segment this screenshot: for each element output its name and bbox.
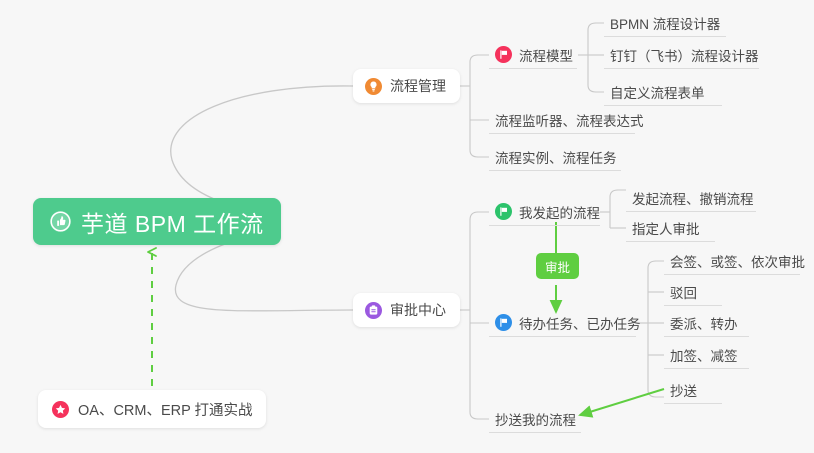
leaf-label: 抄送我的流程 <box>495 409 576 429</box>
leaf-label: 流程监听器、流程表达式 <box>495 110 644 130</box>
thumbs-up-icon <box>50 211 71 232</box>
flag-icon <box>495 314 512 331</box>
leaf-label: 发起流程、撤销流程 <box>632 188 754 208</box>
leaf-chaosong[interactable]: 抄送 <box>664 376 722 404</box>
root-label: 芋道 BPM 工作流 <box>81 205 264 239</box>
leaf-bohui[interactable]: 驳回 <box>664 278 722 306</box>
leaf-faqi-chexiao-liucheng[interactable]: 发起流程、撤销流程 <box>626 184 756 212</box>
leaf-label: 驳回 <box>670 282 697 302</box>
leaf-dingding-designer[interactable]: 钉钉（飞书）流程设计器 <box>604 41 759 69</box>
callout-label: OA、CRM、ERP 打通实战 <box>78 399 253 420</box>
leaf-liucheng-shili[interactable]: 流程实例、流程任务 <box>489 143 621 171</box>
leaf-liucheng-moxing[interactable]: 流程模型 <box>489 41 577 69</box>
leaf-label: 抄送 <box>670 380 697 400</box>
clipboard-icon <box>365 302 382 319</box>
leaf-bpmn-designer[interactable]: BPMN 流程设计器 <box>604 9 726 37</box>
leaf-label: 我发起的流程 <box>519 202 600 222</box>
leaf-chaosong-wode-liucheng[interactable]: 抄送我的流程 <box>489 405 581 433</box>
leaf-zhidingren-shenpi[interactable]: 指定人审批 <box>626 214 715 242</box>
leaf-label: 流程模型 <box>519 45 573 65</box>
root-node[interactable]: 芋道 BPM 工作流 <box>33 198 281 245</box>
leaf-label: 指定人审批 <box>632 218 700 238</box>
leaf-label: 流程实例、流程任务 <box>495 147 617 167</box>
leaf-label: 委派、转办 <box>670 313 738 333</box>
leaf-liucheng-jiantingqi[interactable]: 流程监听器、流程表达式 <box>489 106 635 134</box>
leaf-label: 加签、减签 <box>670 345 738 365</box>
leaf-label: BPMN 流程设计器 <box>610 13 720 33</box>
leaf-label: 自定义流程表单 <box>610 82 705 102</box>
leaf-label: 会签、或签、依次审批 <box>670 251 805 271</box>
annotation-badge-label: 审批 <box>545 257 570 276</box>
branch-node-liucheng-guanli[interactable]: 流程管理 <box>353 69 460 103</box>
annotation-badge-shenpi: 审批 <box>536 253 579 279</box>
branch-label: 流程管理 <box>390 76 446 96</box>
branch-label: 审批中心 <box>390 300 446 320</box>
leaf-daiban-yiban-renwu[interactable]: 待办任务、已办任务 <box>489 309 636 337</box>
leaf-huiqian-huoqian[interactable]: 会签、或签、依次审批 <box>664 247 800 275</box>
flag-icon <box>495 203 512 220</box>
leaf-jiaqian-jianqian[interactable]: 加签、减签 <box>664 341 749 369</box>
leaf-label: 待办任务、已办任务 <box>519 313 641 333</box>
leaf-wo-faqi-de-liucheng[interactable]: 我发起的流程 <box>489 198 600 226</box>
callout-card[interactable]: OA、CRM、ERP 打通实战 <box>38 390 266 428</box>
star-icon <box>52 401 69 418</box>
leaf-label: 钉钉（飞书）流程设计器 <box>610 45 759 65</box>
leaf-weipai-zhuanban[interactable]: 委派、转办 <box>664 309 749 337</box>
lightbulb-icon <box>365 78 382 95</box>
branch-node-shenpi-zhongxin[interactable]: 审批中心 <box>353 293 460 327</box>
mindmap-canvas: 芋道 BPM 工作流 流程管理 流程模型 流程监听器、流程表达式 流程实例、流 <box>0 0 814 453</box>
flag-icon <box>495 46 512 63</box>
leaf-custom-form[interactable]: 自定义流程表单 <box>604 78 722 106</box>
